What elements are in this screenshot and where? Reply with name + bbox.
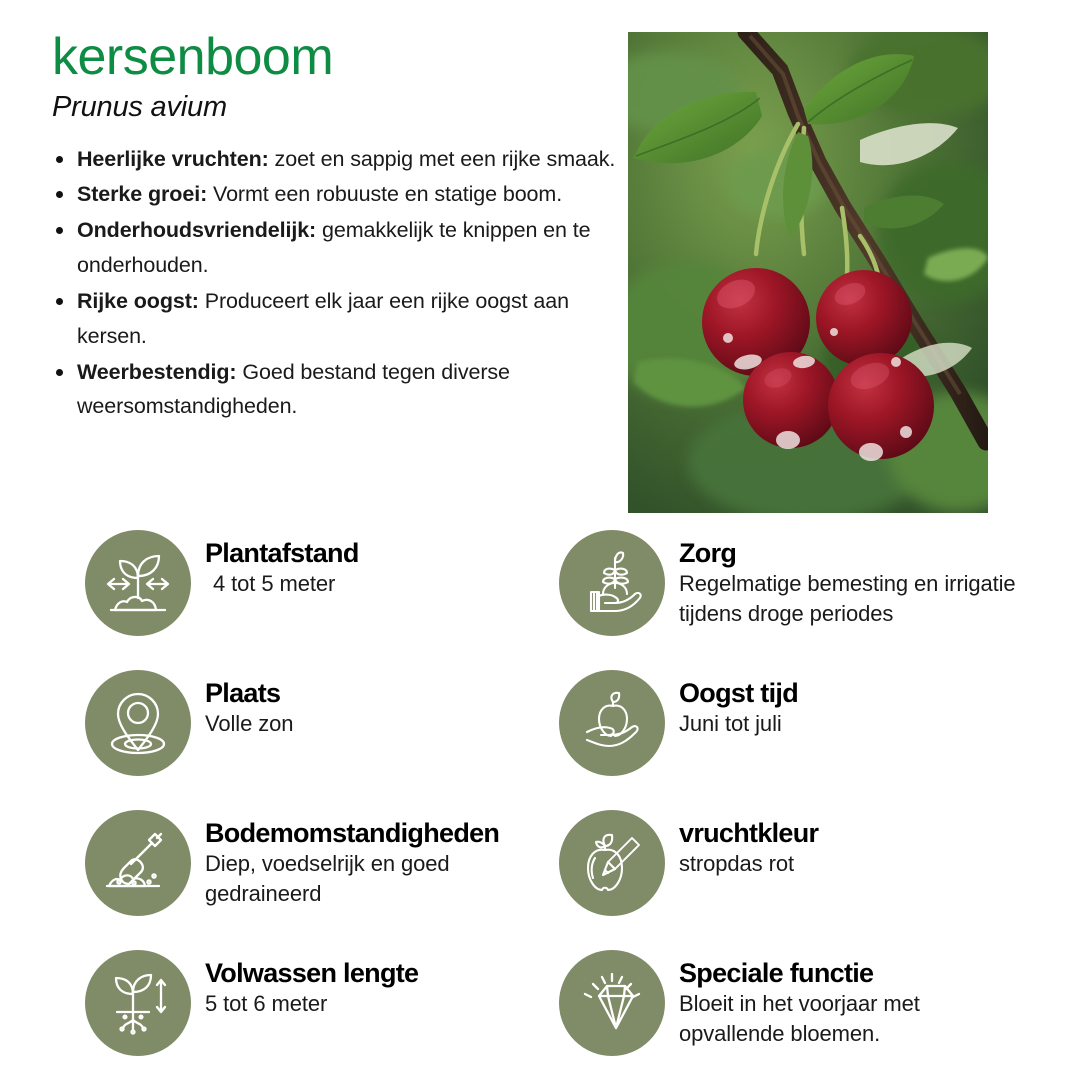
list-item: Rijke oogst: Produceert elk jaar een rij… [52, 284, 617, 354]
spec-text: vruchtkleur stropdas rot [679, 810, 818, 879]
spec-item-zorg: Zorg Regelmatige bemesting en irrigatie … [559, 530, 1019, 636]
page-title: kersenboom [52, 30, 617, 85]
location-pin-icon [85, 670, 191, 776]
spec-title: Speciale functie [679, 958, 1009, 988]
spec-item-volwassen-lengte: Volwassen lengte 5 tot 6 meter [85, 950, 418, 1056]
spec-item-speciale-functie: Speciale functie Bloeit in het voorjaar … [559, 950, 1009, 1056]
feature-label: Heerlijke vruchten: [77, 147, 269, 171]
spec-text: Oogst tijd Juni tot juli [679, 670, 798, 739]
spec-text: Bodemomstandigheden Diep, voedselrijk en… [205, 810, 535, 908]
cherry-photo [628, 32, 988, 513]
shovel-soil-icon [85, 810, 191, 916]
spec-grid: Plantafstand 4 tot 5 meter Plaats Volle … [0, 522, 1080, 1080]
spec-title: Plaats [205, 678, 293, 708]
feature-label: Rijke oogst: [77, 289, 199, 313]
spec-value: Diep, voedselrijk en goed gedraineerd [205, 849, 535, 908]
spec-text: Speciale functie Bloeit in het voorjaar … [679, 950, 1009, 1048]
spec-title: Zorg [679, 538, 1019, 568]
spec-item-bodemomstandigheden: Bodemomstandigheden Diep, voedselrijk en… [85, 810, 535, 916]
spec-item-plaats: Plaats Volle zon [85, 670, 293, 776]
feature-label: Sterke groei: [77, 182, 207, 206]
spec-value: Volle zon [205, 709, 293, 738]
spec-text: Plantafstand 4 tot 5 meter [205, 530, 359, 599]
spec-title: Volwassen lengte [205, 958, 418, 988]
spec-value: Juni tot juli [679, 709, 798, 738]
spec-text: Zorg Regelmatige bemesting en irrigatie … [679, 530, 1019, 628]
spec-title: Oogst tijd [679, 678, 798, 708]
feature-text: Vormt een robuuste en statige boom. [207, 182, 562, 206]
spec-text: Plaats Volle zon [205, 670, 293, 739]
spec-title: Bodemomstandigheden [205, 818, 535, 848]
infographic-page: kersenboom Prunus avium Heerlijke vrucht… [0, 0, 1080, 1080]
spec-text: Volwassen lengte 5 tot 6 meter [205, 950, 418, 1019]
feature-label: Onderhoudsvriendelijk: [77, 218, 316, 242]
spec-value: Regelmatige bemesting en irrigatie tijde… [679, 569, 1019, 628]
cherry-branch-illustration [628, 32, 988, 513]
header-block: kersenboom Prunus avium Heerlijke vrucht… [52, 30, 617, 425]
feature-list: Heerlijke vruchten: zoet en sappig met e… [52, 142, 617, 425]
latin-name: Prunus avium [52, 91, 617, 124]
list-item: Weerbestendig: Goed bestand tegen divers… [52, 355, 617, 425]
spec-item-vruchtkleur: vruchtkleur stropdas rot [559, 810, 818, 916]
spec-value: stropdas rot [679, 849, 818, 878]
list-item: Onderhoudsvriendelijk: gemakkelijk te kn… [52, 213, 617, 283]
spec-value: Bloeit in het voorjaar met opvallende bl… [679, 989, 1009, 1048]
hand-sprout-icon [559, 530, 665, 636]
diamond-sparkle-icon [559, 950, 665, 1056]
feature-label: Weerbestendig: [77, 360, 236, 384]
spec-item-oogst-tijd: Oogst tijd Juni tot juli [559, 670, 798, 776]
spec-title: Plantafstand [205, 538, 359, 568]
plant-height-icon [85, 950, 191, 1056]
spec-value: 5 tot 6 meter [205, 989, 418, 1018]
spec-value: 4 tot 5 meter [213, 569, 359, 598]
spec-title: vruchtkleur [679, 818, 818, 848]
spec-item-plantafstand: Plantafstand 4 tot 5 meter [85, 530, 359, 636]
apple-paintbrush-icon [559, 810, 665, 916]
plant-spacing-icon [85, 530, 191, 636]
list-item: Sterke groei: Vormt een robuuste en stat… [52, 177, 617, 212]
feature-text: zoet en sappig met een rijke smaak. [269, 147, 616, 171]
hand-apple-icon [559, 670, 665, 776]
list-item: Heerlijke vruchten: zoet en sappig met e… [52, 142, 617, 177]
